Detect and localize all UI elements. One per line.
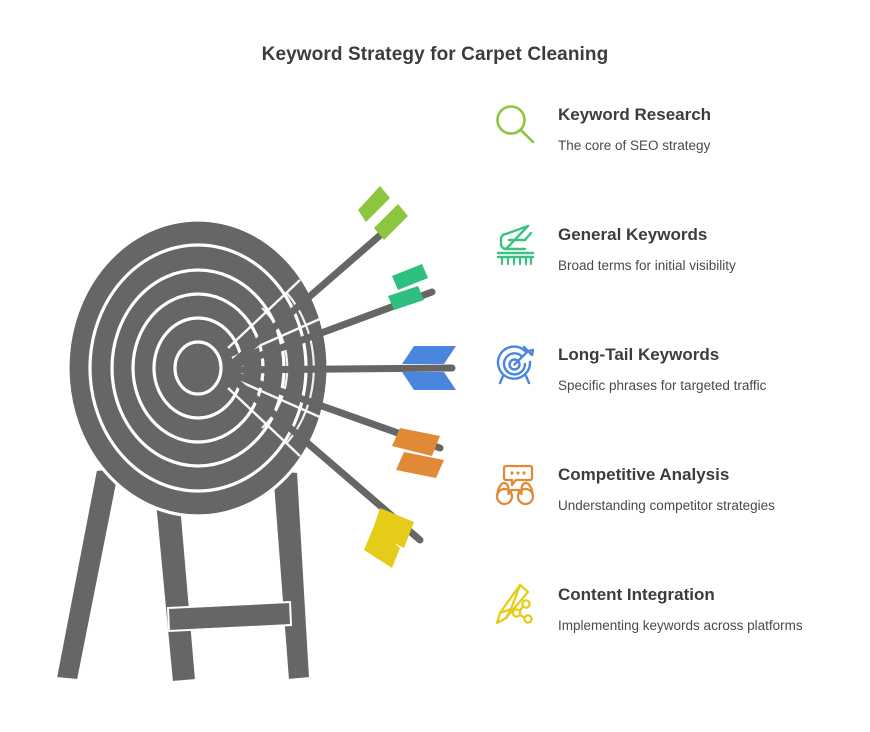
item-text-block: Long-Tail Keywords Specific phrases for …	[548, 336, 870, 394]
item-title: General Keywords	[558, 226, 870, 245]
list-item-long-tail-keywords[interactable]: Long-Tail Keywords Specific phrases for …	[492, 336, 870, 432]
item-text-block: General Keywords Broad terms for initial…	[548, 216, 870, 274]
keyword-strategy-list: Keyword Research The core of SEO strateg…	[492, 96, 870, 676]
list-item-competitive-analysis[interactable]: Competitive Analysis Understanding compe…	[492, 456, 870, 552]
item-title: Keyword Research	[558, 106, 870, 125]
infographic-root: Keyword Strategy for Carpet Cleaning	[0, 0, 870, 732]
item-text-block: Keyword Research The core of SEO strateg…	[548, 96, 870, 154]
list-item-content-integration[interactable]: Content Integration Implementing keyword…	[492, 576, 870, 672]
carpet-sweeper-icon	[492, 216, 548, 274]
item-title: Long-Tail Keywords	[558, 346, 870, 365]
item-description: Broad terms for initial visibility	[558, 258, 870, 274]
item-text-block: Competitive Analysis Understanding compe…	[548, 456, 870, 514]
item-description: The core of SEO strategy	[558, 138, 870, 154]
item-text-block: Content Integration Implementing keyword…	[548, 576, 870, 634]
item-description: Specific phrases for targeted traffic	[558, 378, 870, 394]
item-title: Competitive Analysis	[558, 466, 870, 485]
item-description: Understanding competitor strategies	[558, 498, 870, 514]
page-title: Keyword Strategy for Carpet Cleaning	[0, 44, 870, 66]
target-arrow-icon	[492, 336, 548, 394]
item-description: Implementing keywords across platforms	[558, 618, 870, 634]
target-illustration	[0, 80, 490, 700]
pencil-share-icon	[492, 576, 548, 634]
list-item-general-keywords[interactable]: General Keywords Broad terms for initial…	[492, 216, 870, 312]
binoculars-speech-icon	[492, 456, 548, 514]
list-item-keyword-research[interactable]: Keyword Research The core of SEO strateg…	[492, 96, 870, 192]
magnifier-icon	[492, 96, 548, 154]
item-title: Content Integration	[558, 586, 870, 605]
